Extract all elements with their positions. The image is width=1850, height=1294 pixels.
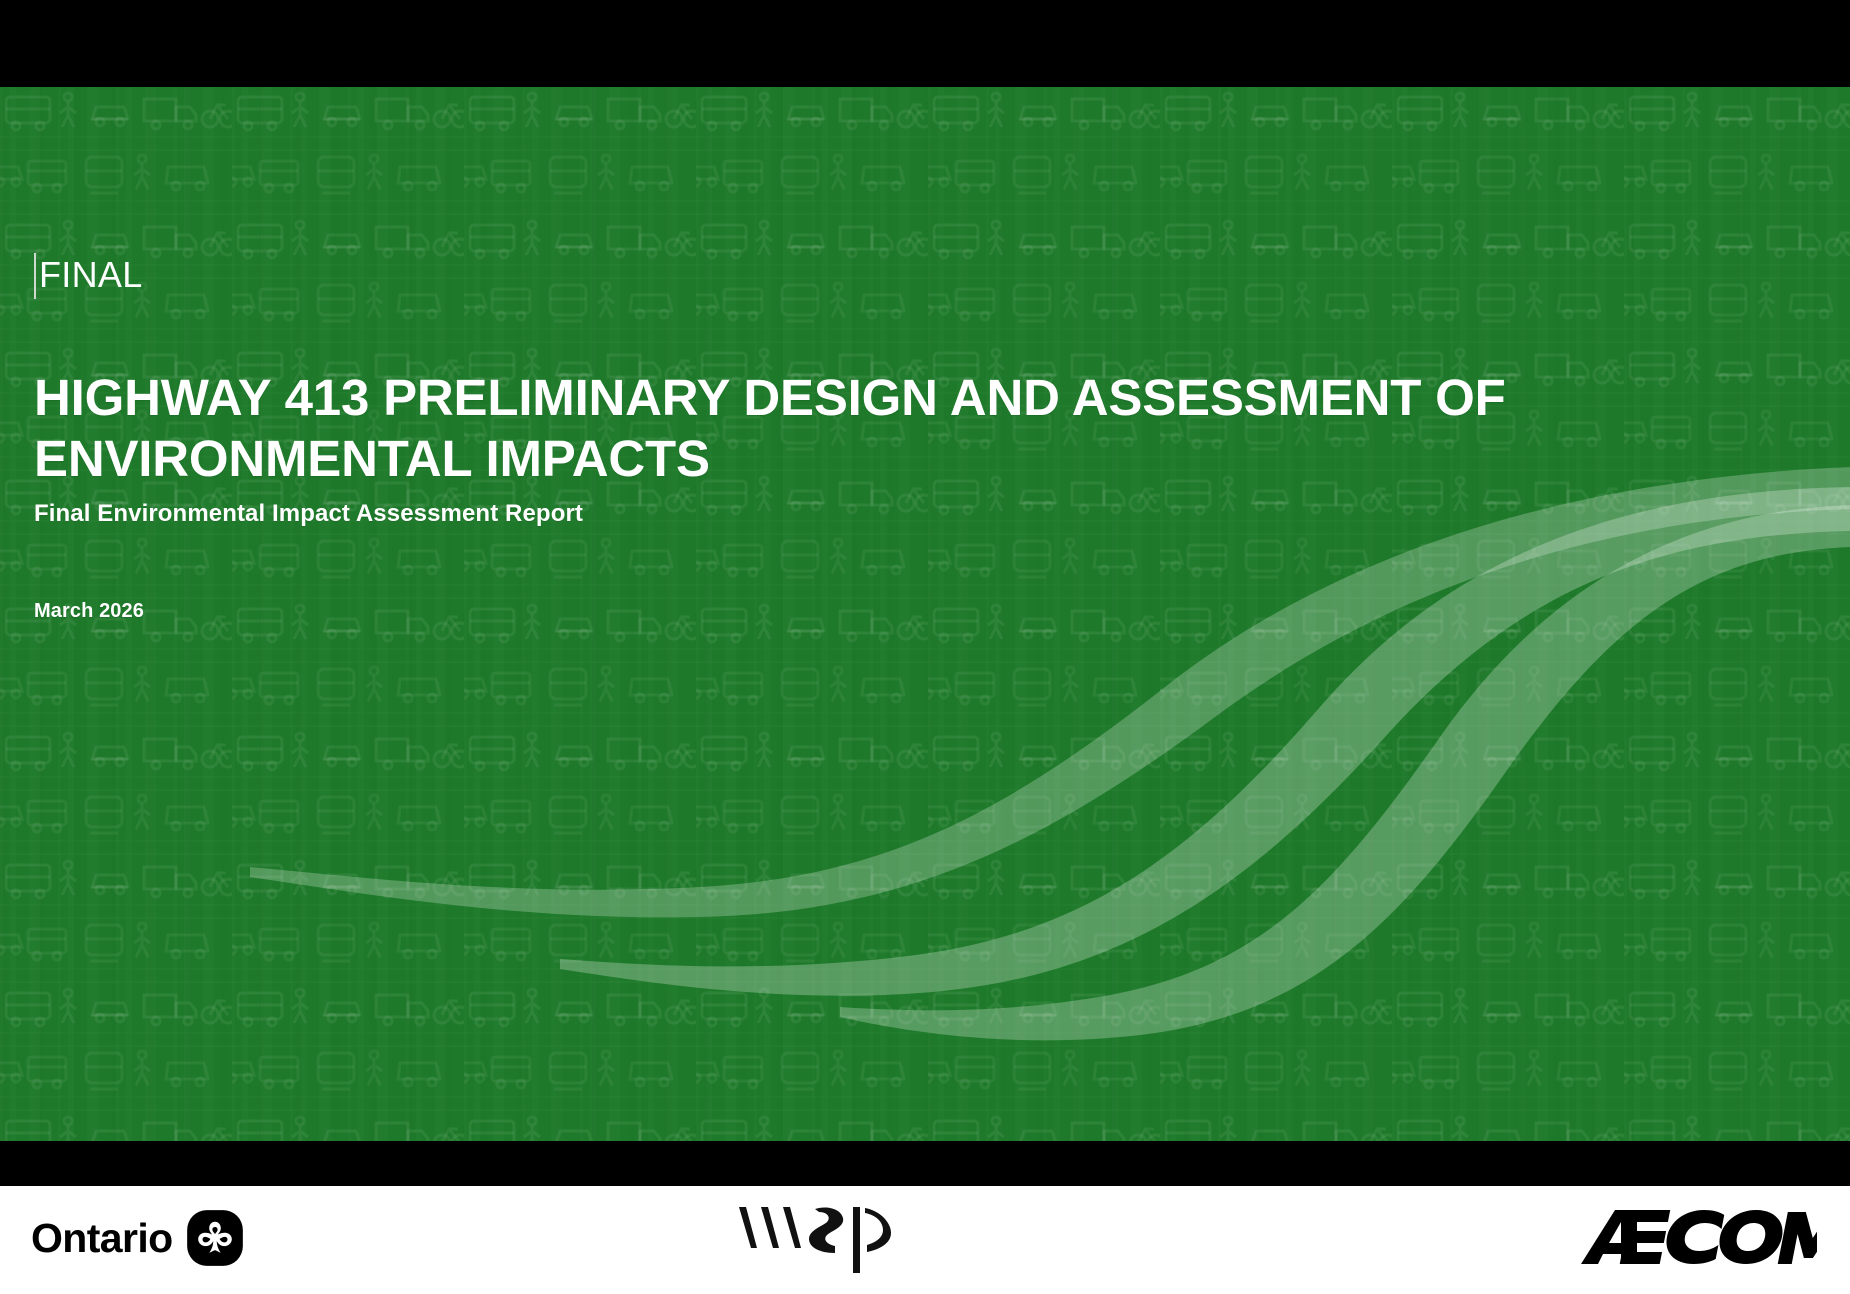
- trillium-icon: [186, 1209, 244, 1267]
- status-label: FINAL: [34, 253, 143, 299]
- aecom-logo: [1581, 1206, 1817, 1268]
- status-label-text: FINAL: [39, 253, 143, 299]
- status-caret-bar: [34, 253, 36, 299]
- page-title: HIGHWAY 413 PRELIMINARY DESIGN AND ASSES…: [34, 367, 1804, 489]
- bottom-black-band: [0, 1141, 1850, 1186]
- top-black-band: [0, 0, 1850, 87]
- wsp-logo: [731, 1201, 906, 1275]
- ontario-logo: Ontario: [31, 1208, 244, 1268]
- footer-logo-bar: Ontario: [0, 1186, 1850, 1294]
- document-cover-page: FINAL HIGHWAY 413 PRELIMINARY DESIGN AND…: [0, 0, 1850, 1294]
- ontario-logo-wordmark: Ontario: [31, 1216, 173, 1260]
- cover-text-block: FINAL HIGHWAY 413 PRELIMINARY DESIGN AND…: [34, 87, 1794, 1141]
- cover-green-panel: FINAL HIGHWAY 413 PRELIMINARY DESIGN AND…: [0, 87, 1850, 1141]
- wsp-logo-mark: [731, 1201, 906, 1275]
- page-date: March 2026: [34, 598, 144, 624]
- page-subtitle: Final Environmental Impact Assessment Re…: [34, 499, 583, 529]
- aecom-logo-mark: [1581, 1206, 1817, 1268]
